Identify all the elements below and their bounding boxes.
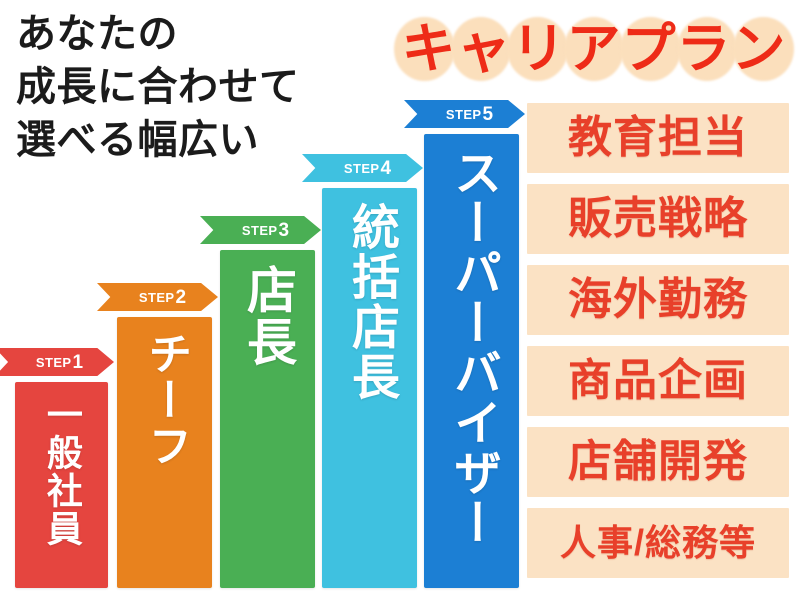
step-badge-word: STEP — [36, 355, 72, 370]
step-column-5[interactable]: STEP5スーパーバイザー — [424, 100, 519, 588]
step-badge-3: STEP3 — [200, 216, 321, 244]
step-column-3[interactable]: STEP3店長 — [220, 216, 315, 588]
step-badge-number: 5 — [482, 105, 493, 124]
role-list: 教育担当販売戦略海外勤務商品企画店舗開発人事/総務等 — [527, 103, 789, 578]
role-list-item[interactable]: 販売戦略 — [527, 184, 789, 254]
step-bar-2[interactable]: チーフ — [117, 317, 212, 588]
step-bar-label: チーフ — [142, 331, 187, 469]
step-bar-3[interactable]: 店長 — [220, 250, 315, 588]
step-bar-label: 店長 — [242, 264, 293, 368]
step-badge-5: STEP5 — [404, 100, 525, 128]
role-list-item-label: 人事/総務等 — [560, 525, 756, 561]
step-column-4[interactable]: STEP4統括店長 — [322, 154, 417, 588]
step-column-1[interactable]: STEP1一般社員 — [15, 348, 108, 588]
role-list-item-label: 販売戦略 — [568, 197, 748, 241]
step-badge-number: 3 — [278, 221, 289, 240]
page-title: キャリアプラン — [396, 6, 792, 92]
role-list-item[interactable]: 店舗開発 — [527, 427, 789, 497]
role-list-item-label: 海外勤務 — [568, 278, 748, 322]
step-bar-1[interactable]: 一般社員 — [15, 382, 108, 588]
step-badge-1: STEP1 — [0, 348, 114, 376]
role-list-item[interactable]: 人事/総務等 — [527, 508, 789, 578]
headline: あなたの 成長に合わせて 選べる幅広い — [16, 8, 396, 168]
step-badge-2: STEP2 — [97, 283, 218, 311]
step-column-2[interactable]: STEP2チーフ — [117, 283, 212, 588]
step-badge-word: STEP — [446, 107, 482, 122]
step-badge-word: STEP — [139, 290, 175, 305]
step-badge-number: 4 — [380, 159, 391, 178]
role-list-item-label: 店舗開発 — [568, 440, 748, 484]
career-plan-infographic: あなたの 成長に合わせて 選べる幅広い キャリアプラン STEP1一般社員STE… — [0, 0, 800, 600]
step-bar-5[interactable]: スーパーバイザー — [424, 134, 519, 588]
step-badge-number: 1 — [72, 353, 83, 372]
step-bar-label: スーパーバイザー — [447, 148, 496, 548]
headline-line-1: あなたの — [16, 8, 396, 61]
step-badge-word: STEP — [344, 161, 380, 176]
role-list-item[interactable]: 商品企画 — [527, 346, 789, 416]
step-badge-number: 2 — [175, 288, 186, 307]
step-badge-word: STEP — [242, 223, 278, 238]
title-text: キャリアプラン — [402, 22, 787, 76]
step-bar-4[interactable]: 統括店長 — [322, 188, 417, 588]
role-list-item-label: 教育担当 — [568, 116, 748, 160]
role-list-item[interactable]: 海外勤務 — [527, 265, 789, 335]
headline-line-2: 成長に合わせて — [16, 61, 396, 114]
step-bar-label: 一般社員 — [43, 396, 80, 548]
role-list-item-label: 商品企画 — [568, 359, 748, 403]
role-list-item[interactable]: 教育担当 — [527, 103, 789, 173]
step-bar-label: 統括店長 — [345, 202, 394, 402]
step-badge-4: STEP4 — [302, 154, 423, 182]
